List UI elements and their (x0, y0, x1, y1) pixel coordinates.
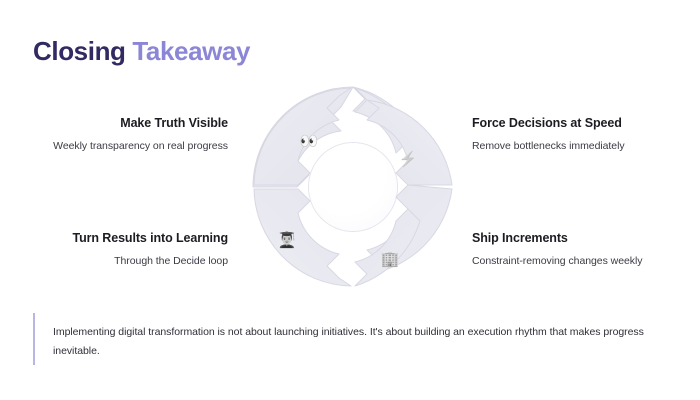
label-title: Make Truth Visible (0, 115, 230, 131)
label-turn-results-into-learning: Turn Results into Learning Through the D… (0, 230, 230, 269)
page-title-light: Takeaway (126, 36, 251, 66)
page-title-strong: Closing (33, 36, 126, 66)
label-make-truth-visible: Make Truth Visible Weekly transparency o… (0, 115, 230, 154)
label-title: Turn Results into Learning (0, 230, 230, 246)
label-title: Force Decisions at Speed (472, 115, 700, 131)
eyes-icon: 👀 (296, 128, 322, 154)
cycle-diagram: 👀 ⚡ 🏢 👨‍🎓 (252, 86, 454, 288)
student-person-icon: 👨‍🎓 (274, 227, 300, 253)
lightning-bolt-icon: ⚡ (395, 146, 421, 172)
office-building-icon: 🏢 (377, 246, 403, 272)
slide-root: Closing Takeaway (0, 0, 700, 400)
label-description: Through the Decide loop (0, 254, 230, 269)
label-title: Ship Increments (472, 230, 700, 246)
page-title: Closing Takeaway (33, 34, 250, 68)
label-description: Weekly transparency on real progress (0, 139, 230, 154)
footer-quote: Implementing digital transformation is n… (33, 313, 653, 365)
diagram-hub (309, 143, 397, 231)
footer-quote-text: Implementing digital transformation is n… (53, 313, 653, 361)
label-description: Constraint-removing changes weekly (472, 254, 700, 269)
label-ship-increments: Ship Increments Constraint-removing chan… (472, 230, 700, 269)
label-force-decisions-at-speed: Force Decisions at Speed Remove bottlene… (472, 115, 700, 154)
label-description: Remove bottlenecks immediately (472, 139, 700, 154)
